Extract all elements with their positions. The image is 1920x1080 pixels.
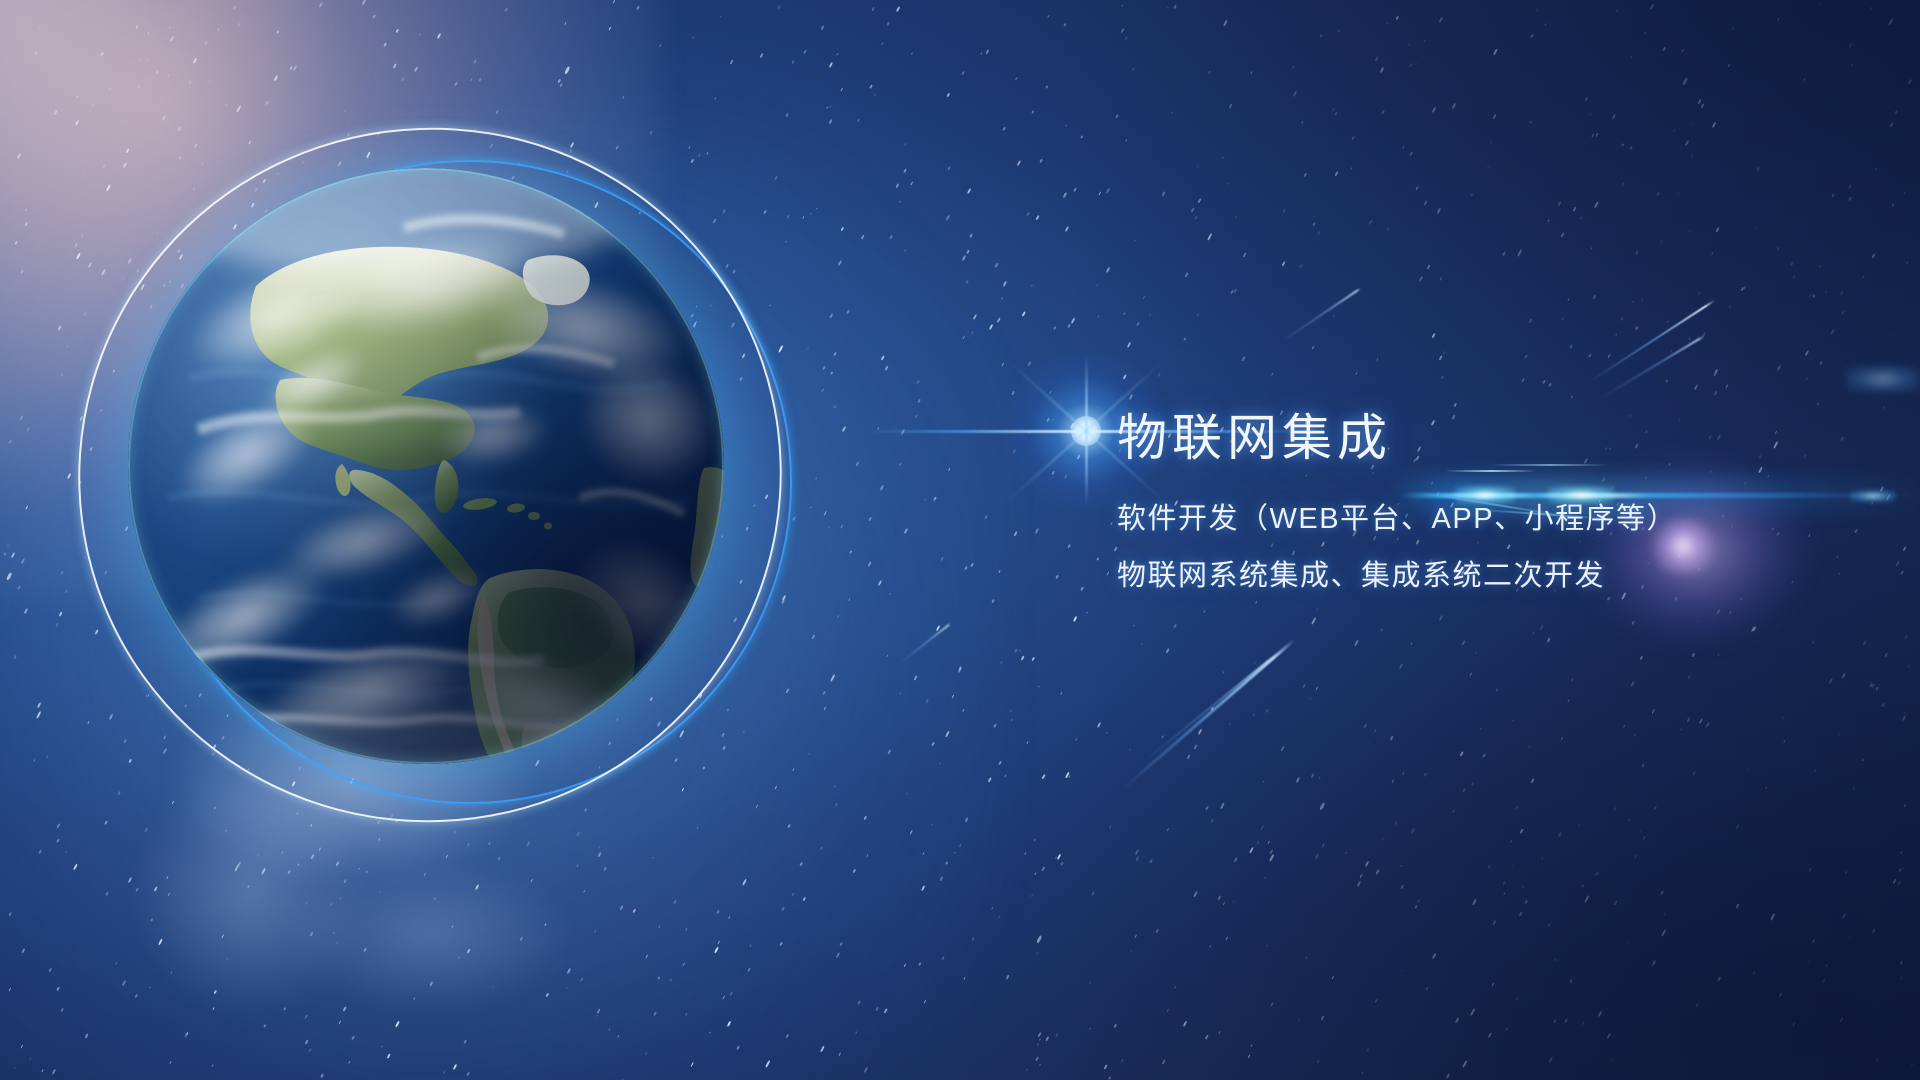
subtitle-line-1: 软件开发（WEB平台、APP、小程序等） (1117, 505, 1877, 534)
lens-flare-distant (1846, 366, 1920, 392)
page-title: 物联网集成 (1117, 413, 1877, 463)
banner-text-block: 物联网集成 软件开发（WEB平台、APP、小程序等） 物联网系统集成、集成系统二… (1117, 413, 1877, 591)
subtitle-line-2: 物联网系统集成、集成系统二次开发 (1117, 562, 1877, 591)
hero-banner: 物联网集成 软件开发（WEB平台、APP、小程序等） 物联网系统集成、集成系统二… (0, 0, 1920, 1080)
